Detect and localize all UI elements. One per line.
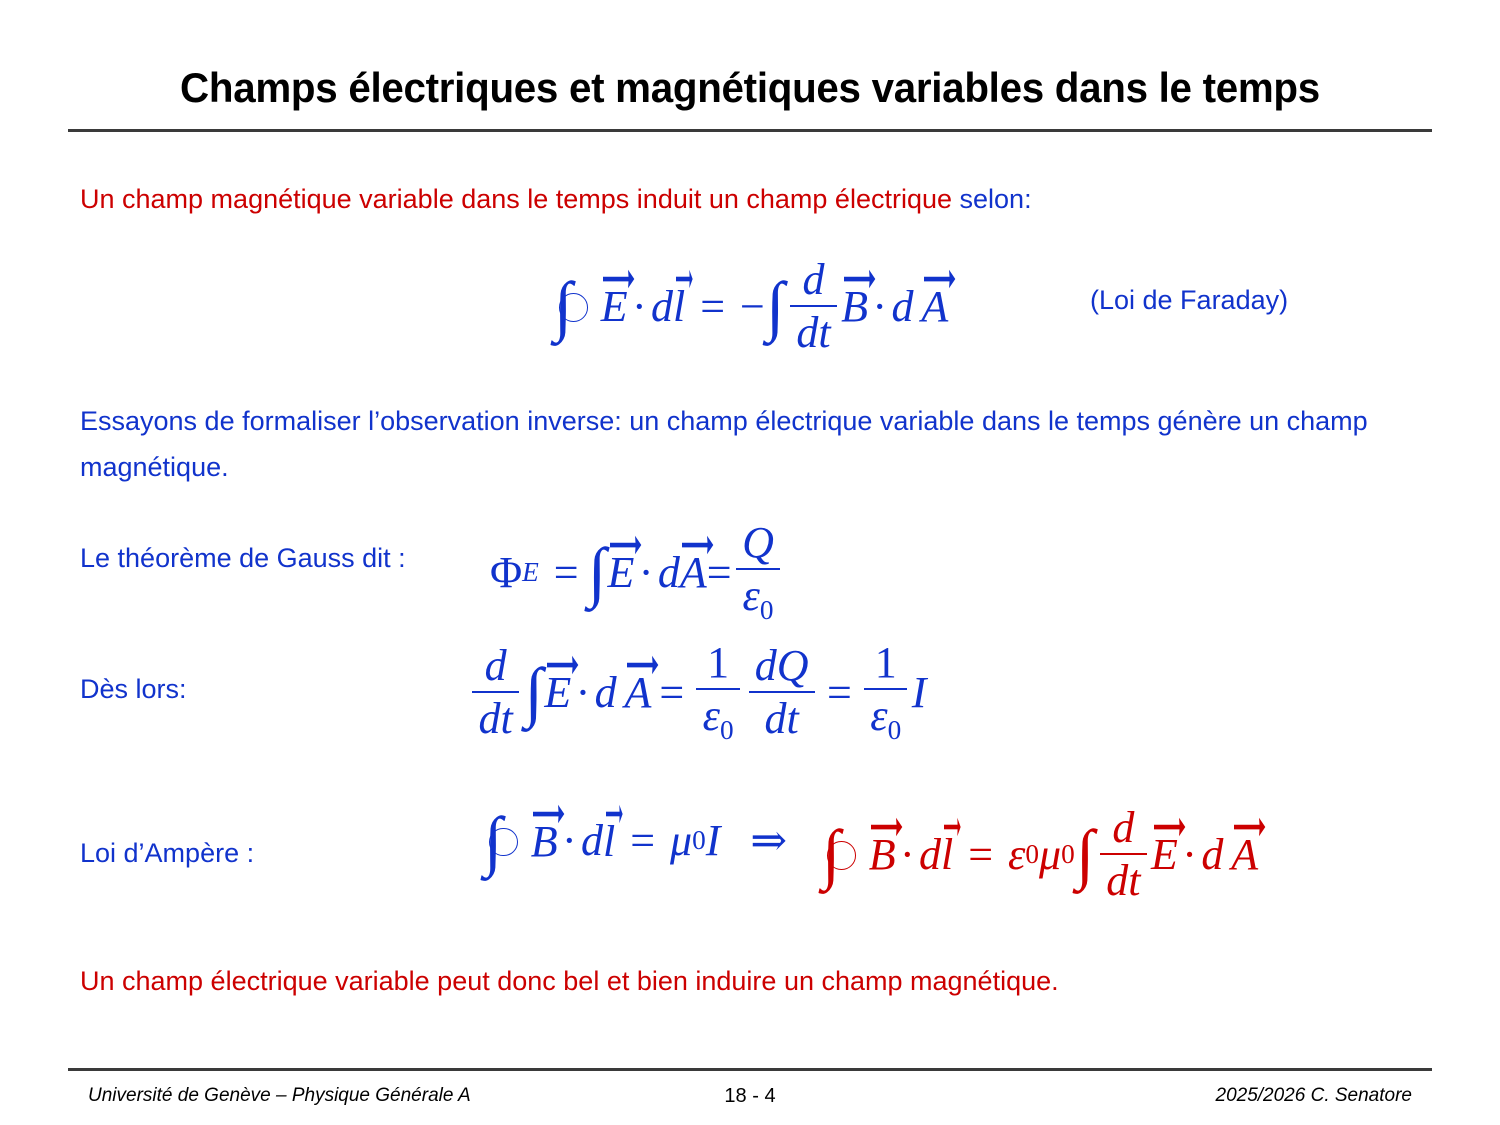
- contour-integral-symbol: ∫: [820, 834, 861, 874]
- implies-arrow-icon: ⇒: [750, 815, 787, 866]
- title-divider: [68, 129, 1432, 132]
- equation-des-lors: ddt ∫ E · d A = 1ε0 dQdt = 1ε0 I: [468, 640, 926, 745]
- vector-E: E: [608, 546, 635, 598]
- fraction-dQ-dt: dQdt: [749, 643, 815, 742]
- intro-red-text: Un champ magnétique variable dans le tem…: [80, 184, 960, 214]
- vector-l: l: [603, 815, 615, 867]
- fraction-d-dt: ddt: [472, 643, 519, 742]
- fraction-1-eps0: 1ε0: [864, 640, 907, 745]
- integral-symbol: ∫: [765, 286, 786, 326]
- vector-E: E: [601, 280, 628, 332]
- footer-author: 2025/2026 C. Senatore: [1216, 1085, 1413, 1107]
- fraction-1-eps0: 1ε0: [696, 640, 739, 745]
- fraction-Q-eps0: Qε0: [736, 520, 780, 625]
- integral-symbol: ∫: [1075, 834, 1096, 874]
- faraday-law-note: (Loi de Faraday): [1090, 285, 1288, 316]
- vector-B: B: [869, 828, 896, 880]
- ampere-law-label: Loi d’Ampère :: [80, 838, 254, 869]
- intro-paragraph: Un champ magnétique variable dans le tem…: [80, 176, 1420, 222]
- equation-gauss: ΦE = ∫ E · d A = Qε0: [490, 520, 784, 625]
- slide-title: Champs électriques et magnétiques variab…: [95, 63, 1404, 113]
- fraction-d-dt: ddt: [790, 257, 837, 356]
- subscript-E: E: [522, 557, 539, 588]
- vector-B: B: [531, 815, 558, 867]
- vector-l: l: [941, 828, 953, 880]
- vector-A: A: [680, 546, 707, 598]
- contour-integral-symbol: ∫: [552, 286, 593, 326]
- vector-A: A: [1231, 828, 1258, 880]
- intro-blue-text: selon:: [960, 184, 1032, 214]
- gauss-theorem-label: Le théorème de Gauss dit :: [80, 543, 406, 574]
- des-lors-label: Dès lors:: [80, 674, 187, 705]
- fraction-d-dt: ddt: [1100, 805, 1147, 904]
- integral-symbol: ∫: [523, 672, 544, 712]
- vector-E: E: [1151, 828, 1178, 880]
- contour-integral-symbol: ∫: [482, 821, 523, 861]
- vector-B: B: [841, 280, 868, 332]
- vector-A: A: [921, 280, 948, 332]
- slide-root: Champs électriques et magnétiques variab…: [0, 0, 1500, 1125]
- vector-l: l: [673, 280, 685, 332]
- vector-E: E: [544, 666, 571, 718]
- equation-ampere-original: ∫ B · d l = μ0I ⇒: [482, 815, 787, 867]
- integral-symbol: ∫: [587, 552, 608, 592]
- equation-ampere-maxwell: ∫ B · d l = ε0μ0 ∫ ddt E · d A: [820, 805, 1258, 904]
- footer-divider: [68, 1068, 1432, 1071]
- vector-A: A: [625, 666, 652, 718]
- conclusion-paragraph: Un champ électrique variable peut donc b…: [80, 958, 1420, 1004]
- equation-faraday: ∫ E · d l = − ∫ ddt B · d A: [552, 257, 948, 356]
- inverse-observation-paragraph: Essayons de formaliser l’observation inv…: [80, 398, 1425, 490]
